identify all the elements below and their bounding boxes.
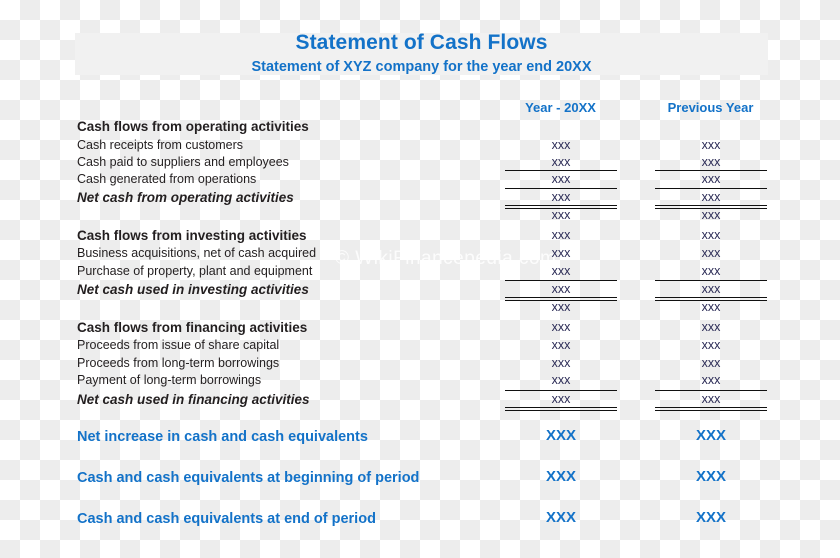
line-item-value-previous: xxx [655,264,767,279]
line-item-value-previous: xxx [655,338,767,353]
carry-forward-value-previous: xxx [655,208,767,223]
summary-value-net-increase-previous: XXX [655,427,767,444]
subtotal-rule [505,280,617,281]
carry-forward-value-current: xxx [505,300,617,315]
carry-forward-value-previous: xxx [655,300,767,315]
line-item-value-previous: xxx [655,246,767,261]
summary-value-beginning-balance-previous: XXX [655,468,767,485]
line-item-value-current: xxx [505,338,617,353]
section-total-value-current: xxx [505,190,617,205]
line-item-label: Cash receipts from customers [77,138,243,153]
summary-value-net-increase-current: XXX [505,427,617,444]
line-item-value-current: xxx [505,172,617,187]
line-item-value-previous: xxx [655,138,767,153]
section-total-value-previous: xxx [655,392,767,407]
line-item-value-current: xxx [505,155,617,170]
section-total-label: Net cash used in financing activities [77,392,310,407]
line-item-value-previous: xxx [655,373,767,388]
page-title: Statement of Cash Flows [75,31,768,55]
line-item-row: Cash generated from operations xxx xxx [0,172,840,189]
section-heading: Cash flows from operating activities [77,119,309,134]
summary-label-beginning-balance: Cash and cash equivalents at beginning o… [77,470,419,486]
line-item-value-current: xxx [505,246,617,261]
line-item-value-current: xxx [505,356,617,371]
summary-label-ending-balance: Cash and cash equivalents at end of peri… [77,511,376,527]
page-subtitle: Statement of XYZ company for the year en… [75,59,768,75]
column-header-current-year: Year - 20XX [488,100,633,115]
section-total-double-rule [655,407,767,411]
line-item-row: Proceeds from long-term borrowings xxx x… [0,356,840,373]
column-header-previous-year: Previous Year [638,100,783,115]
section-heading-values-row: xxx xxx [0,320,840,337]
section-heading-value-current: xxx [505,320,617,335]
summary-value-ending-balance-previous: XXX [655,509,767,526]
line-item-row: Proceeds from issue of share capital xxx… [0,338,840,355]
section-heading-value-current: xxx [505,228,617,243]
line-item-value-current: xxx [505,264,617,279]
subtotal-rule [505,390,617,391]
summary-label-net-increase: Net increase in cash and cash equivalent… [77,429,368,445]
subtotal-rule [655,280,767,281]
carry-forward-row: xxx xxx [0,300,840,317]
line-item-value-current: xxx [505,373,617,388]
line-item-label: Proceeds from issue of share capital [77,338,279,353]
line-item-label: Cash paid to suppliers and employees [77,155,289,170]
section-total-value-current: xxx [505,392,617,407]
section-total-value-previous: xxx [655,282,767,297]
subtotal-rule [655,188,767,189]
section-total-value-current: xxx [505,282,617,297]
line-item-label: Payment of long-term borrowings [77,373,261,388]
section-heading-value-previous: xxx [655,228,767,243]
section-heading-value-previous: xxx [655,320,767,335]
cash-flow-statement: Statement of Cash Flows Statement of XYZ… [0,0,840,558]
section-heading-values-row: xxx xxx [0,228,840,245]
summary-value-beginning-balance-current: XXX [505,468,617,485]
line-item-value-previous: xxx [655,155,767,170]
line-item-label: Cash generated from operations [77,172,256,187]
line-item-row: Cash receipts from customers xxx xxx [0,138,840,155]
summary-value-ending-balance-current: XXX [505,509,617,526]
subtotal-rule [655,390,767,391]
line-item-label: Business acquisitions, net of cash acqui… [77,246,316,261]
section-total-label: Net cash from operating activities [77,190,294,205]
line-item-value-previous: xxx [655,172,767,187]
carry-forward-row: xxx xxx [0,208,840,225]
line-item-value-previous: xxx [655,356,767,371]
line-item-label: Proceeds from long-term borrowings [77,356,279,371]
section-total-double-rule [505,407,617,411]
line-item-row: Payment of long-term borrowings xxx xxx [0,373,840,390]
section-total-value-previous: xxx [655,190,767,205]
line-item-row: Business acquisitions, net of cash acqui… [0,246,840,263]
subtotal-rule [505,188,617,189]
section-heading-row: Cash flows from operating activities [0,119,840,136]
line-item-value-current: xxx [505,138,617,153]
section-total-label: Net cash used in investing activities [77,282,309,297]
carry-forward-value-current: xxx [505,208,617,223]
line-item-label: Purchase of property, plant and equipmen… [77,264,312,279]
subtotal-rule [505,170,617,171]
line-item-row: Purchase of property, plant and equipmen… [0,264,840,281]
subtotal-rule [655,170,767,171]
